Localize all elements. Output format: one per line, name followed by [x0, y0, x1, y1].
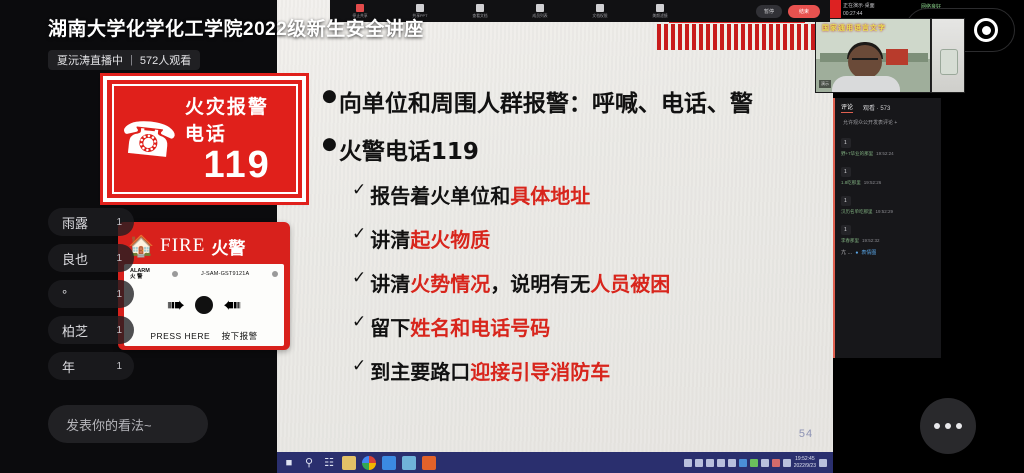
- comment-composer[interactable]: 发表你的看法~: [48, 405, 208, 443]
- streamer-status: 夏沅涛直播中: [57, 52, 123, 68]
- slide-main-bullet-2: ● 火警电话119: [322, 132, 862, 166]
- list-item[interactable]: 柏芝 1: [48, 316, 134, 344]
- press-here-en: PRESS HERE: [150, 331, 210, 341]
- lock-icon: [596, 4, 604, 12]
- comment-filter-label: 允许观众公开发表评论: [843, 120, 893, 126]
- sub-5-red1: 迎接引导消防车: [470, 356, 610, 385]
- more-dots-icon[interactable]: [920, 398, 976, 454]
- right-panel: 正在演示·桌面 00:27:44 网络良好 国家通用语言文字 演示 ■ 评论 观…: [833, 0, 1024, 473]
- comment-item: 1 李春那里19:52:32: [841, 218, 935, 244]
- camera-banner-text: 国家通用语言文字: [822, 23, 886, 33]
- taskbar-clock[interactable]: 19:52:45 2022/9/23: [794, 456, 816, 469]
- poster-title: 火灾报警电话: [185, 92, 290, 146]
- record-button-icon[interactable]: [974, 18, 998, 42]
- bubble-name: 年: [62, 357, 75, 376]
- toolbar-permissions[interactable]: 文档权限: [570, 0, 630, 22]
- toolbar-beauty-filter-label: 美颜滤镜: [652, 13, 667, 19]
- separator: |: [130, 54, 133, 66]
- comment-time: 19:52:29: [876, 209, 894, 214]
- check-mark-icon: ✓: [352, 224, 366, 244]
- comment-user: 1.8吃那里: [841, 180, 861, 185]
- press-dot-icon: [195, 296, 213, 314]
- bubble-name: °: [62, 287, 67, 302]
- comment-user: 李春那里: [841, 238, 859, 243]
- comment-time: 19:52:32: [862, 238, 880, 243]
- chrome-icon[interactable]: [359, 453, 379, 472]
- comment-user: 野+7毕业的那里: [841, 151, 873, 156]
- comment-body: 1: [841, 196, 851, 206]
- bubble-count: 1: [116, 217, 122, 228]
- presenting-status: 正在演示·桌面 00:27:44: [843, 2, 875, 18]
- toolbar-view-document[interactable]: 查看文档: [450, 0, 510, 22]
- list-item[interactable]: 良也 1: [48, 244, 134, 272]
- bubble-count: 1: [116, 325, 122, 336]
- sub-1-red1: 具体地址: [510, 180, 590, 209]
- document-icon: [476, 4, 484, 12]
- bubble-count: 1: [116, 289, 122, 300]
- bubble-count: 1: [116, 253, 122, 264]
- slide-main-bullet-2-text: 火警电话119: [339, 132, 479, 166]
- fire-alarm-119-poster: ☎ 火灾报警电话 119: [103, 76, 306, 202]
- battery-icon[interactable]: [684, 459, 692, 467]
- check-mark-icon: ✓: [352, 268, 366, 288]
- comment-list[interactable]: 1 野+7毕业的那里19:52:24 1 1.8吃那里19:52:26 1 汉历…: [835, 131, 941, 244]
- comment-item: 1 汉历名单吃那里19:52:29: [841, 189, 935, 215]
- thunder-icon[interactable]: [379, 453, 399, 472]
- presenting-status-line1: 正在演示·桌面: [843, 2, 875, 10]
- sub-3-plain1: 讲清: [370, 268, 410, 297]
- windows-start-icon[interactable]: ■: [279, 453, 299, 472]
- list-item[interactable]: 雨露 1: [48, 208, 134, 236]
- callpoint-brand-cn: 火警: [211, 234, 245, 259]
- comment-time: 19:52:26: [864, 180, 882, 185]
- poster-number: 119: [204, 146, 271, 186]
- share-ppt-icon: [416, 4, 424, 12]
- camera-badge: 演示: [819, 80, 831, 88]
- comment-panel: 评论 观看 · 573 允许观众公开发表评论 + 1 野+7毕业的那里19:52…: [833, 98, 941, 358]
- led-indicator-right-icon: [272, 271, 278, 277]
- sub-3-red2: 人员被困: [590, 268, 670, 297]
- bubble-count: 1: [116, 361, 122, 372]
- comment-body: 1: [841, 167, 851, 177]
- input-icon[interactable]: [750, 459, 758, 467]
- presenting-timer: 00:27:44: [843, 10, 875, 18]
- sub-3-red1: 火势情况: [410, 268, 490, 297]
- sub-1-plain1: 报告着火单位和: [370, 180, 510, 209]
- comment-footer-link[interactable]: 表情图: [861, 249, 876, 256]
- wifi-icon[interactable]: [706, 459, 714, 467]
- bubble-name: 良也: [62, 249, 88, 268]
- bullet-dot-icon: ●: [322, 84, 337, 109]
- toolbar-members-label: 成员列表: [532, 13, 547, 19]
- bullet-dot-icon: ●: [322, 132, 337, 157]
- check-mark-icon: ✓: [352, 312, 366, 332]
- live-status-bar: 夏沅涛直播中 | 572人观看: [48, 50, 200, 70]
- slide-sub-bullet-3: ✓ 讲清火势情况，说明有无人员被困: [322, 268, 862, 297]
- sub-4-plain1: 留下: [370, 312, 410, 341]
- comment-body: 1: [841, 225, 851, 235]
- pdf-icon[interactable]: [419, 453, 439, 472]
- tab-viewers[interactable]: 观看 · 573: [863, 103, 890, 112]
- lock-icon[interactable]: [695, 459, 703, 467]
- comment-time: 19:52:24: [876, 151, 894, 156]
- slide-sub-bullet-4: ✓ 留下姓名和电话号码: [322, 312, 862, 341]
- sync-icon[interactable]: [772, 459, 780, 467]
- comment-footer-text: 亢 …: [841, 249, 852, 256]
- slide-sub-bullet-5: ✓ 到主要路口迎接引导消防车: [322, 356, 862, 385]
- file-explorer-icon[interactable]: [339, 453, 359, 472]
- network-icon[interactable]: [783, 459, 791, 467]
- toolbar-beauty-filter[interactable]: 美颜滤镜: [630, 0, 690, 22]
- toolbar-view-document-label: 查看文档: [472, 13, 487, 19]
- slide-main-bullet-1-text: 向单位和周围人群报警：呼喊、电话、警: [339, 84, 753, 118]
- page-title: 湖南大学化学化工学院2022级新生安全讲座: [48, 14, 424, 41]
- callpoint-model: J-SAM-GST9121A: [201, 271, 249, 277]
- check-mark-icon: ✓: [352, 180, 366, 200]
- cloud-icon[interactable]: [728, 459, 736, 467]
- sparkle-icon: [656, 4, 664, 12]
- end-button[interactable]: 结束: [788, 5, 820, 18]
- windows-taskbar: ■ ⚲ ☷ 19:52:45 2022/9/23: [277, 452, 833, 473]
- sub-3-plain2: ，说明有无: [490, 268, 590, 297]
- bubble-name: 雨露: [62, 213, 88, 232]
- check-mark-icon: ✓: [352, 356, 366, 376]
- sub-5-plain1: 到主要路口: [370, 356, 470, 385]
- bubble-name: 柏芝: [62, 321, 88, 340]
- sub-2-red1: 起火物质: [410, 224, 490, 253]
- task-view-icon[interactable]: ☷: [319, 453, 339, 472]
- comment-body: 1: [841, 138, 851, 148]
- sub-4-red1: 姓名和电话号码: [410, 312, 550, 341]
- system-tray: 19:52:45 2022/9/23: [684, 452, 831, 473]
- arrow-left-icon: ➠: [223, 294, 241, 316]
- phone-handset-icon: ☎: [117, 113, 179, 165]
- slide-sub-bullet-1: ✓ 报告着火单位和具体地址: [322, 180, 862, 209]
- toolbar-members[interactable]: 成员列表: [510, 0, 570, 22]
- comment-footer[interactable]: 亢 … ● 表情图: [835, 247, 941, 258]
- list-item[interactable]: 年 1: [48, 352, 134, 380]
- camera-preview[interactable]: 国家通用语言文字 演示: [815, 18, 931, 93]
- clock-date: 2022/9/23: [794, 463, 816, 469]
- manual-call-point-image: 🏠 FIRE 火警 ALARM 火 警 J-SAM-GST9121A ➠ ➠ P…: [118, 222, 290, 350]
- clock-time: 19:52:45: [794, 456, 816, 462]
- stop-share-icon: [356, 4, 364, 12]
- comment-filter-toggle[interactable]: 允许观众公开发表评论 +: [835, 116, 941, 131]
- pause-button[interactable]: 暂停: [756, 5, 782, 18]
- slide-sub-bullet-2: ✓ 讲清起火物质: [322, 224, 862, 253]
- toolbar-permissions-label: 文档权限: [592, 13, 607, 19]
- viewer-bubble-list: 雨露 1 良也 1 ° 1 柏芝 1 年 1: [48, 208, 134, 388]
- display-icon[interactable]: [819, 459, 827, 467]
- sub-2-plain1: 讲清: [370, 224, 410, 253]
- notes-icon[interactable]: [739, 459, 747, 467]
- slide-page-number: 54: [786, 428, 826, 440]
- secondary-preview: [931, 18, 965, 93]
- screen-root: ☎ 火灾报警电话 119 🏠 FIRE 火警 ALARM 火 警 J-SAM-G…: [0, 0, 1024, 473]
- volume-icon[interactable]: [717, 459, 725, 467]
- callpoint-brand: FIRE: [160, 235, 205, 257]
- shield-icon[interactable]: [761, 459, 769, 467]
- viewer-count: 572人观看: [140, 52, 191, 68]
- comment-user: 汉历名单吃那里: [841, 209, 873, 214]
- comment-item: 1 野+7毕业的那里19:52:24: [841, 131, 935, 157]
- press-here-cn: 按下报警: [222, 331, 258, 341]
- comment-item: 1 1.8吃那里19:52:26: [841, 160, 935, 186]
- led-indicator-left-icon: [172, 271, 178, 277]
- edge-icon[interactable]: [399, 453, 419, 472]
- arrow-right-icon: ➠: [167, 294, 185, 316]
- slide-text-block: ● 向单位和周围人群报警：呼喊、电话、警 ● 火警电话119 ✓ 报告着火单位和…: [322, 84, 862, 400]
- list-item[interactable]: ° 1: [48, 280, 134, 308]
- tab-comments[interactable]: 评论: [841, 102, 853, 113]
- emoji-icon[interactable]: ●: [855, 250, 858, 256]
- search-icon[interactable]: ⚲: [299, 453, 319, 472]
- slide-main-bullet-1: ● 向单位和周围人群报警：呼喊、电话、警: [322, 84, 862, 118]
- members-icon: [536, 4, 544, 12]
